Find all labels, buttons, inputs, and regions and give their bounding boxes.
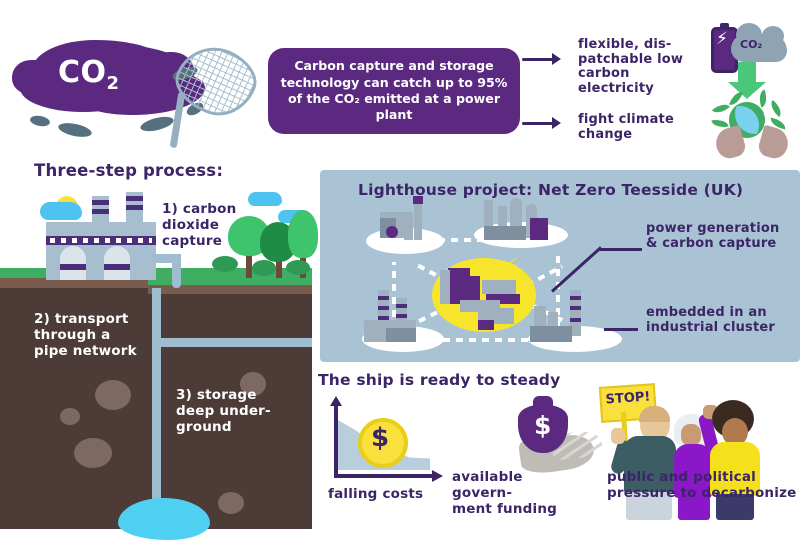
chimney-band — [126, 196, 143, 201]
benefit-climate: fight climate change — [578, 113, 688, 142]
tower-base-left — [60, 270, 86, 280]
chart-y-axis — [334, 404, 338, 478]
co2-label: CO2 — [58, 56, 168, 94]
rock — [95, 380, 131, 410]
benefit-electricity: flexible, dis- patchable low carbon elec… — [578, 38, 698, 96]
three-step-heading: Three-step process: — [34, 162, 223, 180]
industry-shade — [386, 328, 416, 342]
chimney-cap — [413, 196, 423, 204]
chimney-band — [396, 304, 407, 308]
leader-line-power-2 — [598, 248, 642, 251]
industry-detail — [530, 218, 548, 240]
arrow-to-benefit-1 — [522, 58, 554, 61]
bush — [286, 260, 310, 275]
smoke-smudge — [57, 121, 93, 140]
center-plant-block — [470, 276, 480, 300]
main-callout-text: Carbon capture and storage technology ca… — [280, 58, 508, 123]
chimney-band — [126, 205, 143, 210]
cloud-icon — [40, 202, 82, 220]
lightning-bolt-icon: ⚡ — [716, 31, 728, 48]
chimney-band — [570, 306, 581, 310]
dollar-sign: $ — [534, 411, 551, 440]
bush — [252, 260, 276, 276]
caption-government-funding: available govern- ment funding — [452, 470, 572, 518]
chimney-band — [396, 314, 407, 318]
center-plant-block — [440, 270, 450, 304]
cloud-icon — [248, 192, 282, 206]
green-down-arrow-stem — [738, 62, 756, 84]
annotation-power-generation: power generation & carbon capture — [646, 222, 796, 251]
arrow-head-1 — [552, 53, 561, 65]
leader-line-cluster — [604, 328, 638, 331]
caption-falling-costs: falling costs — [328, 487, 423, 502]
branch-pipe-right — [152, 338, 312, 347]
chimney-band — [570, 318, 581, 322]
chimney-band — [92, 209, 109, 214]
industry-detail — [386, 226, 398, 238]
main-callout-box: Carbon capture and storage technology ca… — [268, 48, 520, 134]
chimney-band — [92, 200, 109, 205]
chart-x-axis — [334, 474, 434, 478]
bush — [212, 256, 238, 272]
chimney-band — [570, 296, 581, 300]
step-3-label: 3) storage deep under- ground — [176, 388, 286, 436]
rock — [60, 408, 80, 425]
industry-base — [530, 326, 572, 342]
person-1-hair — [639, 406, 670, 422]
caption-public-pressure: public and political pressure to decarbo… — [607, 470, 797, 502]
leaf-icon — [712, 100, 730, 117]
infographic-canvas: CO2 Carbon capture and storage technolog… — [0, 0, 800, 529]
leaf-icon — [767, 100, 785, 117]
step-2-label: 2) transport through a pipe network — [34, 312, 154, 360]
power-plant-windows — [50, 238, 152, 243]
stop-sign-text: STOP! — [605, 389, 652, 407]
tree-crown — [288, 210, 318, 258]
storage-reservoir — [118, 498, 210, 540]
smoke-smudge — [29, 114, 50, 127]
lightning-bolt-icon: ⚡ — [504, 254, 519, 279]
cloud-co2-label: CO₂ — [740, 38, 762, 51]
dollar-sign: $ — [371, 423, 389, 453]
annotation-industrial-cluster: embedded in an industrial cluster — [646, 306, 796, 335]
chimney — [414, 200, 422, 240]
arrow-head-2 — [552, 117, 561, 129]
drivers-title: The ship is ready to steady — [318, 372, 560, 389]
person-2-face — [681, 424, 701, 446]
chart-x-arrow — [432, 470, 443, 482]
smoke-smudge — [139, 114, 175, 134]
capture-pipe-down — [172, 254, 181, 288]
step-1-label: 1) carbon dioxide capture — [162, 202, 244, 250]
arrow-to-benefit-2 — [522, 122, 554, 125]
center-plant-block — [478, 320, 494, 330]
rock — [218, 492, 244, 514]
center-plant-block — [448, 268, 470, 304]
chart-y-arrow — [330, 396, 342, 406]
money-bag-neck — [533, 396, 553, 409]
industry-base — [484, 226, 526, 240]
chimney-band — [378, 296, 389, 300]
person-1-hand — [611, 428, 625, 444]
tower-base-right — [104, 270, 130, 280]
rock — [74, 438, 112, 468]
industry-block — [404, 214, 413, 240]
center-plant-block — [482, 280, 516, 294]
chimney-band — [378, 306, 389, 310]
